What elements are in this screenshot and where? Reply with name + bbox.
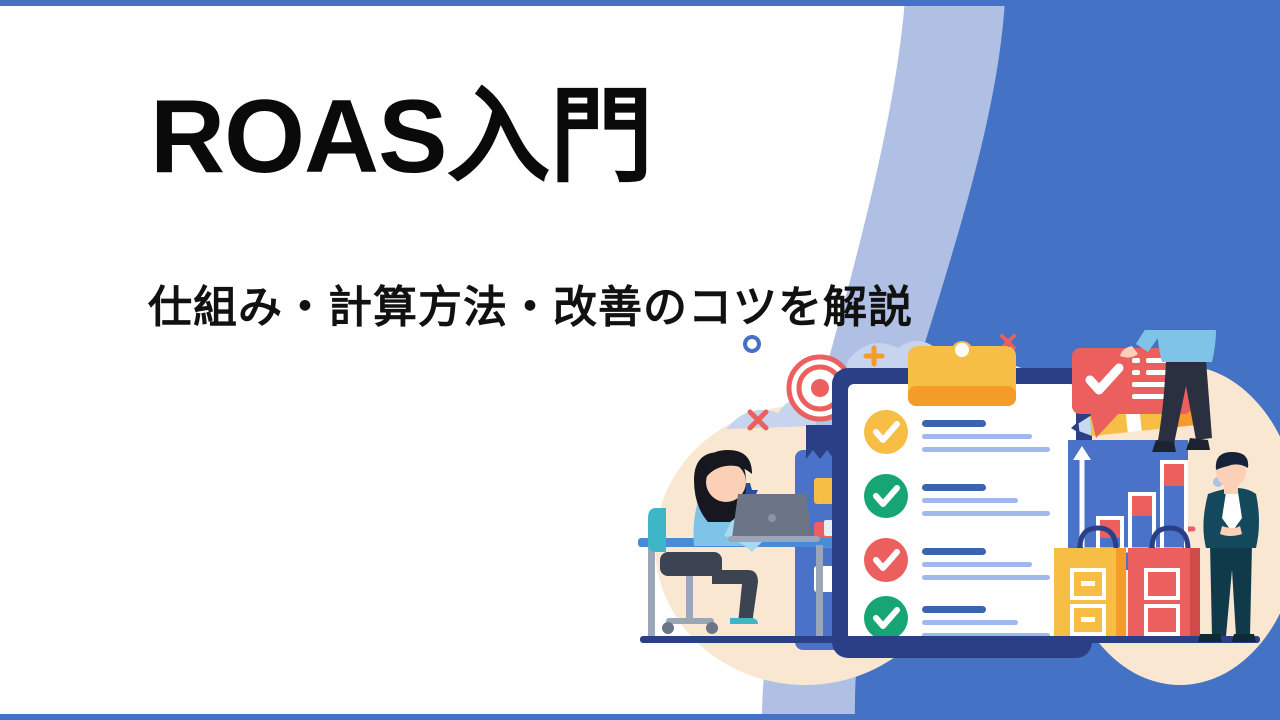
circle-outline-icon	[745, 337, 759, 351]
laptop	[728, 494, 820, 542]
clipboard-check-green-1	[864, 474, 908, 518]
ground-line	[640, 636, 1260, 643]
clipboard-check-red	[864, 538, 908, 582]
suit-shoe-1	[1198, 634, 1222, 642]
desk-leg-left	[648, 545, 655, 637]
woman-shoe	[730, 618, 758, 624]
man-torso	[1157, 330, 1216, 362]
clipboard-clip	[908, 341, 1016, 406]
business-checklist-illustration	[620, 330, 1280, 720]
clipboard-check-green-2	[864, 596, 908, 640]
clipboard	[832, 341, 1092, 658]
page-subtitle: 仕組み・計算方法・改善のコツを解説	[148, 280, 913, 335]
slide-canvas: ROAS入門 仕組み・計算方法・改善のコツを解説	[0, 0, 1280, 720]
bottom-accent-rule	[0, 714, 1280, 720]
page-title: ROAS入門	[150, 80, 652, 194]
clipboard-check-yellow	[864, 410, 908, 454]
top-accent-rule	[0, 0, 1280, 6]
desk-leg-right	[816, 545, 823, 637]
suit-shoe-2	[1232, 634, 1256, 642]
